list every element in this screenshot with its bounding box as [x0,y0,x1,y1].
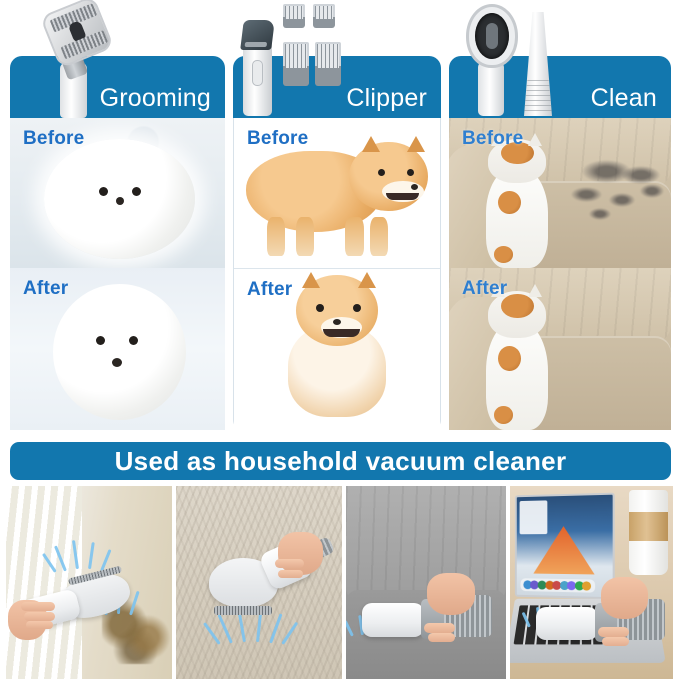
label-before-grooming: Before [23,129,84,148]
column-grooming: Before After [10,118,225,430]
column-clean: Before [449,118,671,430]
hair-clipper-with-guide-combs-icon [243,2,348,116]
photo-curtain-cleaning [6,486,172,679]
product-infographic: Grooming Clipper Clea [0,0,679,679]
photo-sofa-cleaning [346,486,506,679]
label-after-clean: After [462,279,507,298]
label-after-clipper: After [247,280,292,299]
cell-clean-before: Before [449,118,671,268]
usage-cell-sofa [346,486,506,679]
household-vacuum-banner: Used as household vacuum cleaner [10,442,671,480]
label-before-clean: Before [462,129,523,148]
tab-clipper-label: Clipper [346,86,427,111]
photo-laptop-cleaning [510,486,673,679]
usage-photo-strip [0,486,679,679]
cell-clipper-before: Before [234,118,440,268]
usage-cell-carpet [176,486,342,679]
feature-tabs-row: Grooming Clipper Clea [0,0,679,118]
usage-cell-laptop [510,486,673,679]
cleaning-brush-and-crevice-nozzle-icon [464,4,564,116]
cell-grooming-before: Before [10,118,225,268]
cell-clipper-after: After [234,268,440,430]
before-after-grid: Before After [0,118,679,430]
usage-cell-curtain [6,486,172,679]
label-before-clipper: Before [247,129,308,148]
cell-grooming-after: After [10,268,225,430]
column-clipper: Before After [233,118,441,430]
tab-clean-label: Clean [591,86,657,111]
cell-clean-after: After [449,268,671,430]
banner-headline: Used as household vacuum cleaner [115,448,567,474]
photo-carpet-cleaning [176,486,342,679]
label-after-grooming: After [23,279,68,298]
grooming-brush-head-icon [34,4,118,116]
